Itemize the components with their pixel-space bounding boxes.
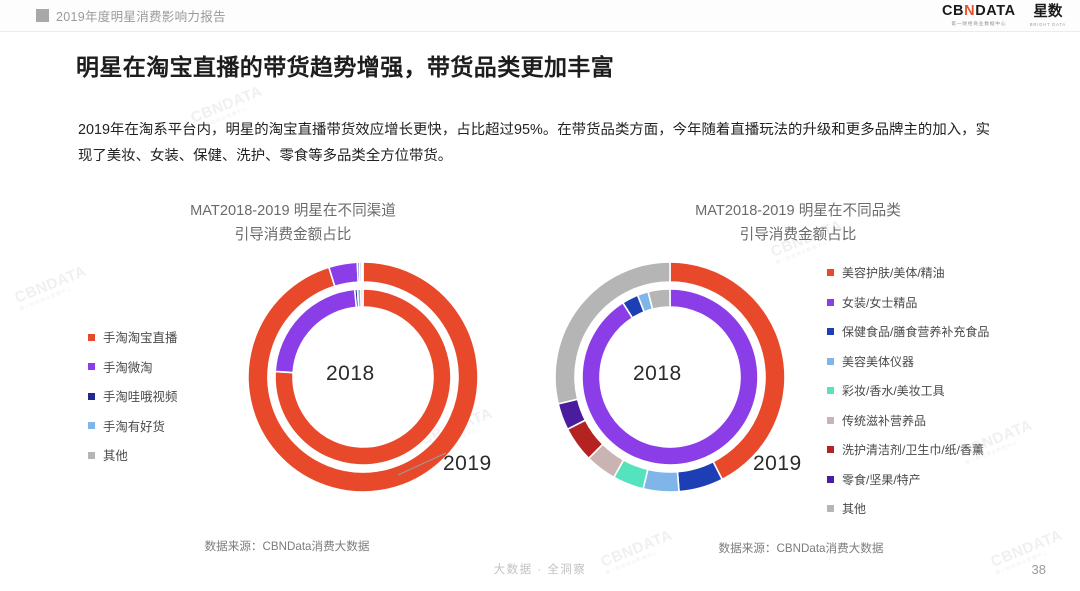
legend-item[interactable]: 零食/坚果/特产 xyxy=(827,471,989,488)
legend-item[interactable]: 其他 xyxy=(88,446,177,464)
legend-swatch-icon xyxy=(827,476,834,483)
brand-logos: CBNDATA 第一财经商业数据中心 星数 BRIGHT DATA xyxy=(942,4,1066,27)
donut-segment[interactable] xyxy=(361,289,363,307)
legend-swatch-icon xyxy=(827,446,834,453)
header-bar: 2019年度明星消费影响力报告 CBNDATA 第一财经商业数据中心 星数 BR… xyxy=(0,0,1080,32)
legend-item[interactable]: 保健食品/膳食营养补充食品 xyxy=(827,323,989,340)
donut-segment[interactable] xyxy=(643,469,679,492)
legend-label: 手淘淘宝直播 xyxy=(103,328,177,346)
category-chart-legend: 美容护肤/美体/精油 女装/女士精品 保健食品/膳食营养补充食品 美容美体仪器 … xyxy=(827,264,989,530)
legend-item[interactable]: 美容美体仪器 xyxy=(827,353,989,370)
legend-swatch-icon xyxy=(827,269,834,276)
xingshu-subtitle: BRIGHT DATA xyxy=(1030,22,1066,27)
report-label: 2019年度明星消费影响力报告 xyxy=(56,6,226,25)
legend-swatch-icon xyxy=(88,393,95,400)
legend-label: 其他 xyxy=(842,500,866,517)
legend-item[interactable]: 传统滋补营养品 xyxy=(827,412,989,429)
legend-item[interactable]: 手淘淘宝直播 xyxy=(88,328,177,346)
xingshu-logo: 星数 BRIGHT DATA xyxy=(1030,5,1066,27)
legend-label: 洗护清洁剂/卫生巾/纸/香薰 xyxy=(842,441,984,458)
category-chart-title: MAT2018-2019 明星在不同品类 引导消费金额占比 xyxy=(545,200,1045,247)
cbndata-logo-x: N xyxy=(964,3,975,19)
footer-tagline: 大数据 · 全洞察 xyxy=(0,561,1080,577)
inner-ring-year-label: 2018 xyxy=(633,362,682,386)
donut-segment[interactable] xyxy=(677,462,722,492)
channel-chart-title: MAT2018-2019 明星在不同渠道 引导消费金额占比 xyxy=(58,200,528,247)
donut-segment[interactable] xyxy=(329,262,358,286)
cbndata-wordmark: CBNDATA xyxy=(942,4,1016,19)
legend-label: 彩妆/香水/美妆工具 xyxy=(842,382,945,399)
legend-swatch-icon xyxy=(88,334,95,341)
legend-swatch-icon xyxy=(827,328,834,335)
legend-item[interactable]: 洗护清洁剂/卫生巾/纸/香薰 xyxy=(827,441,989,458)
channel-donut-chart[interactable]: 2018 2019 xyxy=(248,262,478,497)
outer-ring-year-label: 2019 xyxy=(753,452,802,476)
legend-swatch-icon xyxy=(88,422,95,429)
xingshu-wordmark: 星数 xyxy=(1033,5,1062,20)
legend-swatch-icon xyxy=(827,387,834,394)
legend-item[interactable]: 手淘有好货 xyxy=(88,417,177,435)
legend-label: 手淘哇哦视频 xyxy=(103,387,177,405)
legend-swatch-icon xyxy=(88,363,95,370)
inner-ring-year-label: 2018 xyxy=(326,362,375,386)
legend-label: 手淘有好货 xyxy=(103,417,165,435)
legend-item[interactable]: 女装/女士精品 xyxy=(827,294,989,311)
cbndata-logo: CBNDATA 第一财经商业数据中心 xyxy=(942,4,1016,27)
category-chart-source: 数据来源：CBNData消费大数据 xyxy=(551,540,1051,556)
page-number: 38 xyxy=(1032,562,1046,577)
category-chart-panel: MAT2018-2019 明星在不同品类 引导消费金额占比 美容护肤/美体/精油… xyxy=(545,200,1045,560)
legend-label: 保健食品/膳食营养补充食品 xyxy=(842,323,989,340)
legend-label: 女装/女士精品 xyxy=(842,294,917,311)
legend-swatch-icon xyxy=(827,417,834,424)
legend-label: 传统滋补营养品 xyxy=(842,412,926,429)
legend-item[interactable]: 美容护肤/美体/精油 xyxy=(827,264,989,281)
page-title: 明星在淘宝直播的带货趋势增强，带货品类更加丰富 xyxy=(76,48,614,82)
category-donut-chart[interactable]: 2018 2019 xyxy=(555,262,785,497)
legend-item[interactable]: 彩妆/香水/美妆工具 xyxy=(827,382,989,399)
legend-label: 零食/坚果/特产 xyxy=(842,471,921,488)
legend-item[interactable]: 其他 xyxy=(827,500,989,517)
slide-canvas: CBNDATA第一财经商业数据中心 CBNDATA第一财经商业数据中心 CBND… xyxy=(0,0,1080,591)
cbndata-subtitle: 第一财经商业数据中心 xyxy=(951,21,1006,27)
donut-segment[interactable] xyxy=(648,289,670,309)
channel-chart-panel: MAT2018-2019 明星在不同渠道 引导消费金额占比 手淘淘宝直播 手淘微… xyxy=(58,200,528,560)
legend-swatch-icon xyxy=(88,452,95,459)
header-marker-icon xyxy=(36,9,49,22)
donut-segment[interactable] xyxy=(362,262,363,282)
legend-label: 美容美体仪器 xyxy=(842,353,914,370)
legend-label: 其他 xyxy=(103,446,128,464)
legend-label: 美容护肤/美体/精油 xyxy=(842,264,945,281)
legend-item[interactable]: 手淘哇哦视频 xyxy=(88,387,177,405)
channel-chart-legend: 手淘淘宝直播 手淘微淘 手淘哇哦视频 手淘有好货 其他 xyxy=(88,328,177,476)
channel-chart-source: 数据来源：CBNData消费大数据 xyxy=(52,538,522,554)
legend-swatch-icon xyxy=(827,505,834,512)
legend-swatch-icon xyxy=(827,358,834,365)
body-paragraph: 2019年在淘系平台内，明星的淘宝直播带货效应增长更快，占比超过95%。在带货品… xyxy=(78,118,990,169)
legend-label: 手淘微淘 xyxy=(103,358,153,376)
outer-year-leader-line xyxy=(396,445,476,485)
legend-item[interactable]: 手淘微淘 xyxy=(88,358,177,376)
legend-swatch-icon xyxy=(827,299,834,306)
